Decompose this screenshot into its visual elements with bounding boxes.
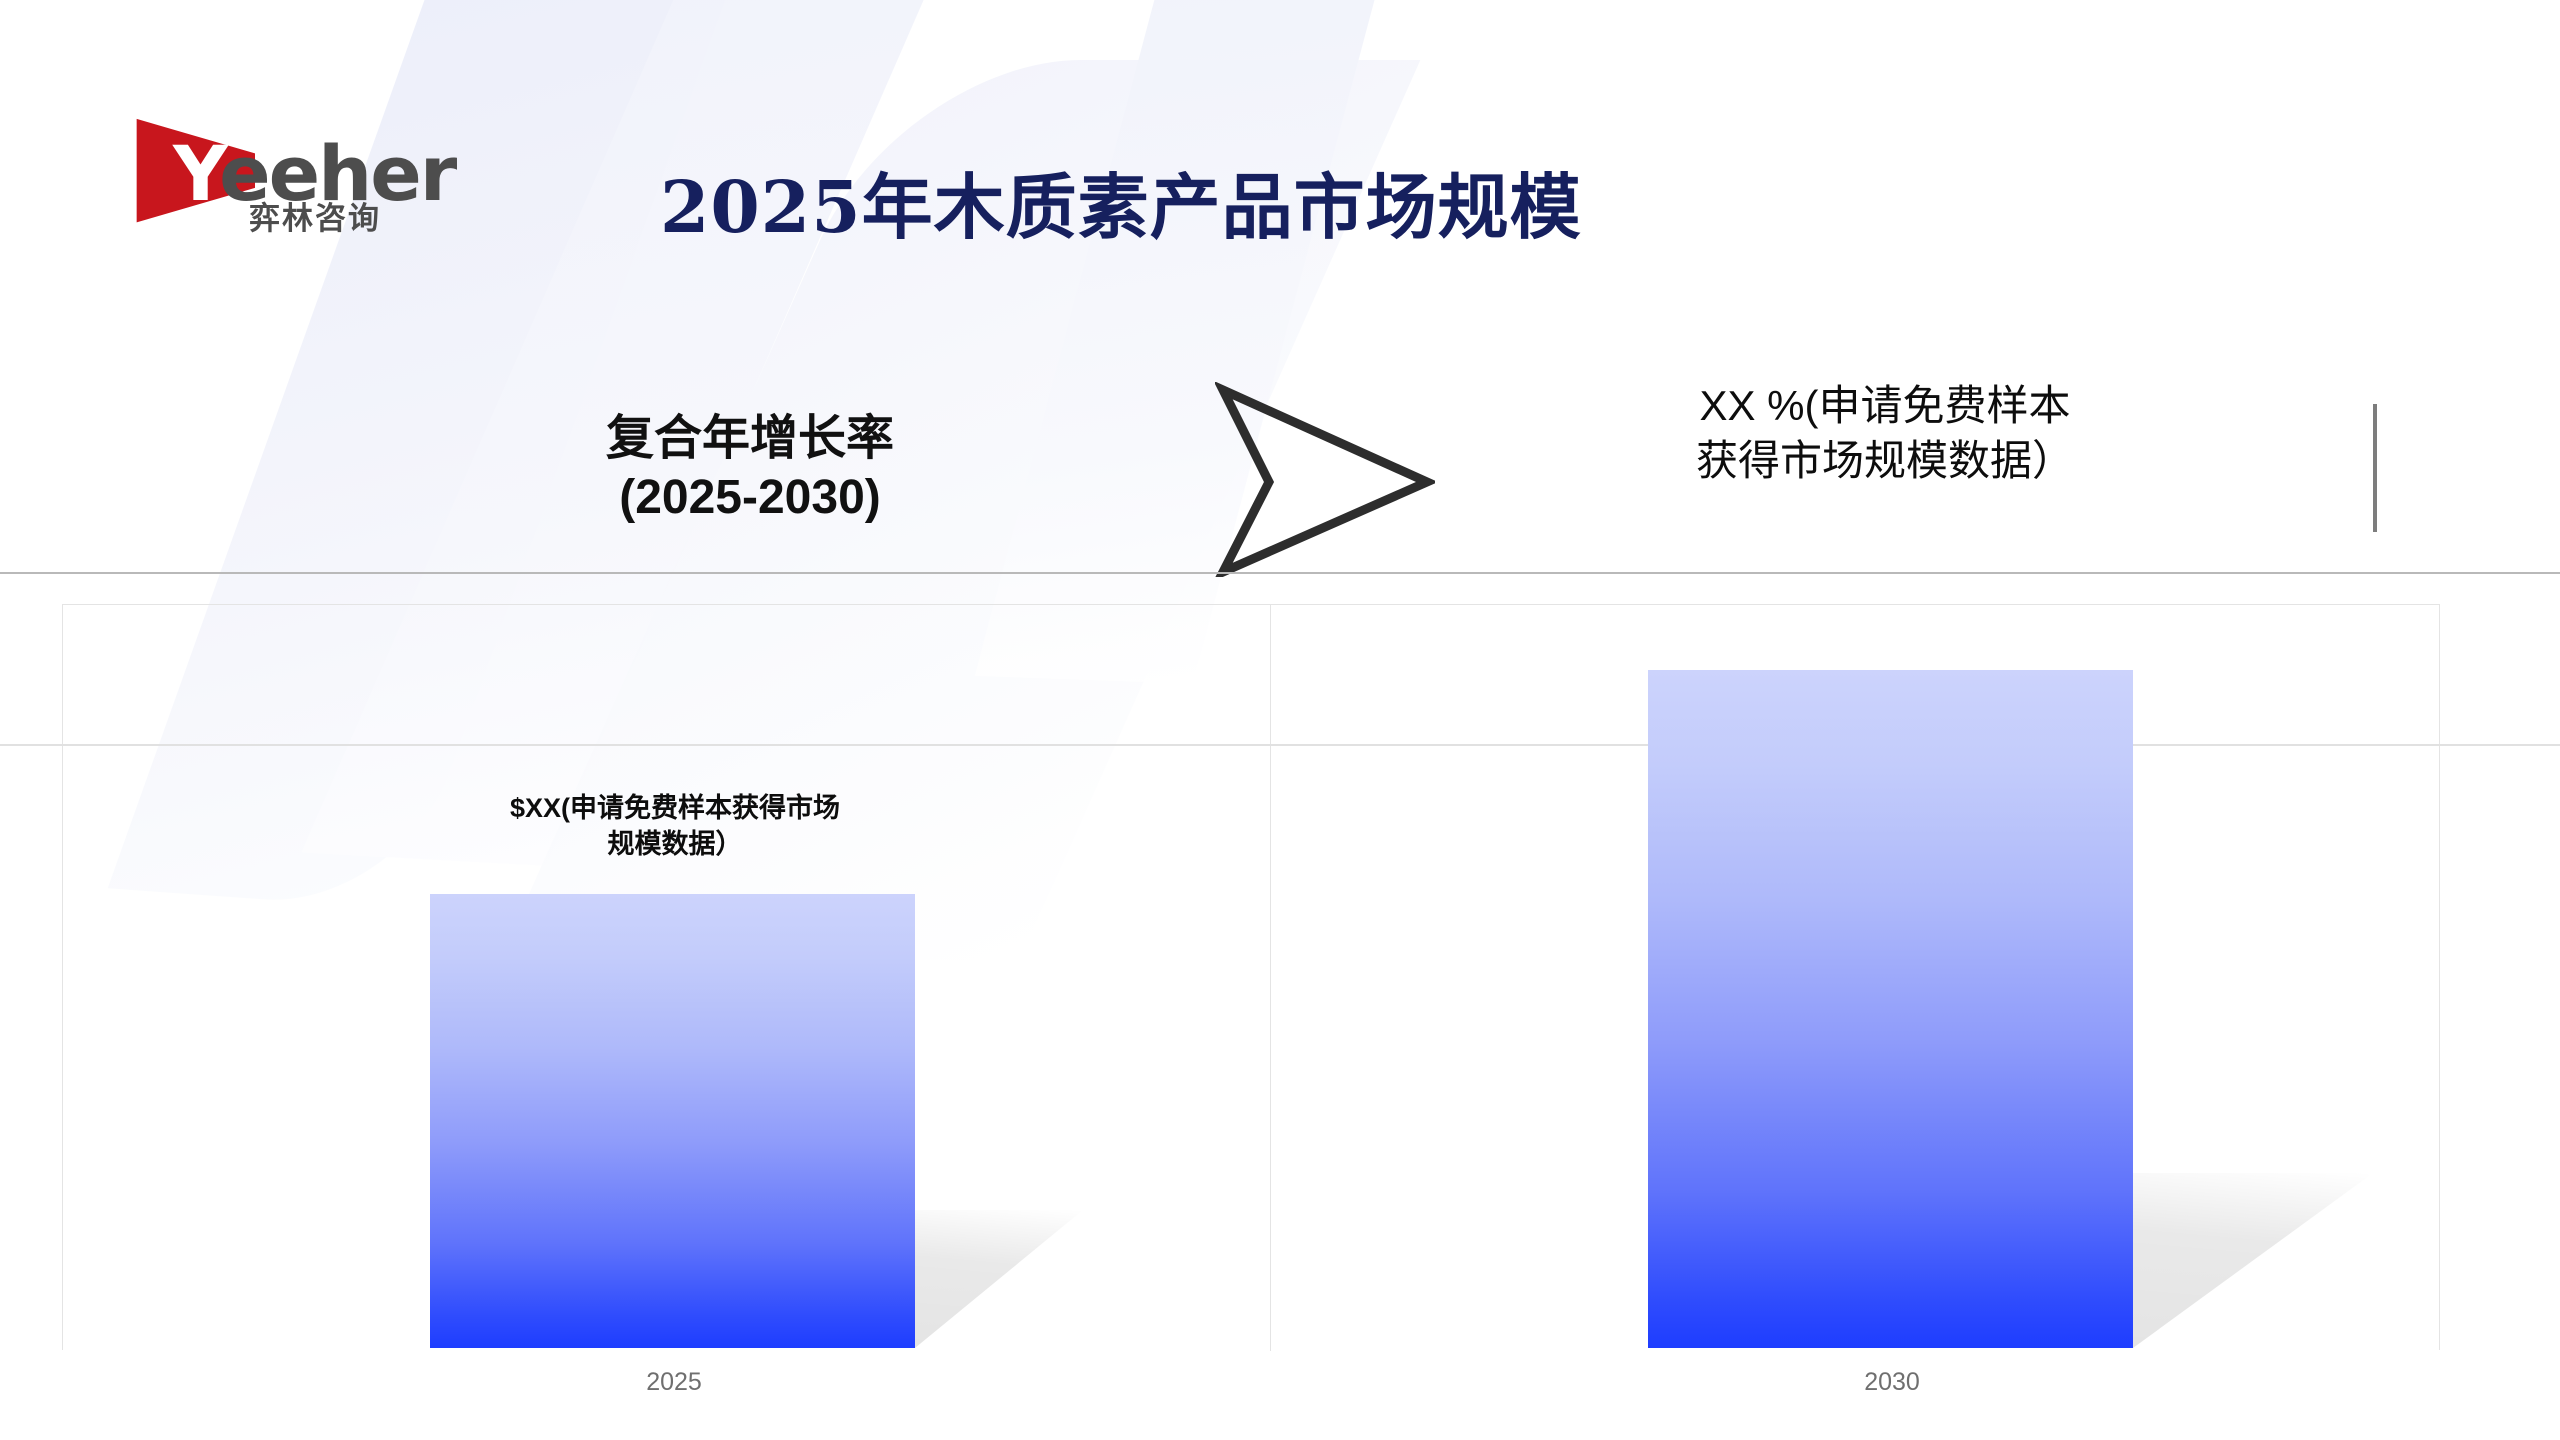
logo-chinese-name: 弈林咨询 bbox=[249, 204, 381, 235]
cagr-value: XX %(申请免费样本 获得市场规模数据） bbox=[1625, 378, 2145, 489]
x-tick-label-2030: 2030 bbox=[1742, 1368, 2042, 1397]
arrow-right-outline-icon bbox=[1215, 382, 1435, 577]
bar-value-label-2025: $XX(申请免费样本获得市场 规模数据） bbox=[420, 790, 930, 863]
logo-wordmark-initial: Y bbox=[173, 129, 219, 218]
page-title: 2025年木质素产品市场规模 bbox=[660, 168, 1582, 246]
chart-center-divider bbox=[1270, 605, 1271, 1351]
cagr-label: 复合年增长率 (2025-2030) bbox=[440, 410, 1060, 527]
cagr-value-line2: 获得市场规模数据） bbox=[1625, 433, 2145, 488]
brand-logo[interactable]: Yeeher 弈林咨询 bbox=[133, 112, 483, 227]
header-horizontal-divider bbox=[0, 572, 2560, 574]
bar-2030[interactable] bbox=[1648, 670, 2133, 1348]
chart-axis-line bbox=[0, 744, 2560, 746]
bar-value-label-2025-line1: $XX(申请免费样本获得市场 bbox=[420, 790, 930, 826]
slide-root: Yeeher 弈林咨询 2025年木质素产品市场规模 复合年增长率 (2025-… bbox=[0, 0, 2560, 1440]
x-tick-label-2025: 2025 bbox=[524, 1368, 824, 1397]
bar-2025[interactable] bbox=[430, 894, 915, 1348]
cagr-value-line1: XX %(申请免费样本 bbox=[1625, 378, 2145, 433]
cagr-label-line2: (2025-2030) bbox=[440, 469, 1060, 528]
slide-header: Yeeher 弈林咨询 2025年木质素产品市场规模 复合年增长率 (2025-… bbox=[0, 0, 2560, 573]
cagr-label-line1: 复合年增长率 bbox=[440, 410, 1060, 469]
header-vertical-rule bbox=[2373, 404, 2377, 532]
bar-value-label-2025-line2: 规模数据） bbox=[420, 826, 930, 862]
